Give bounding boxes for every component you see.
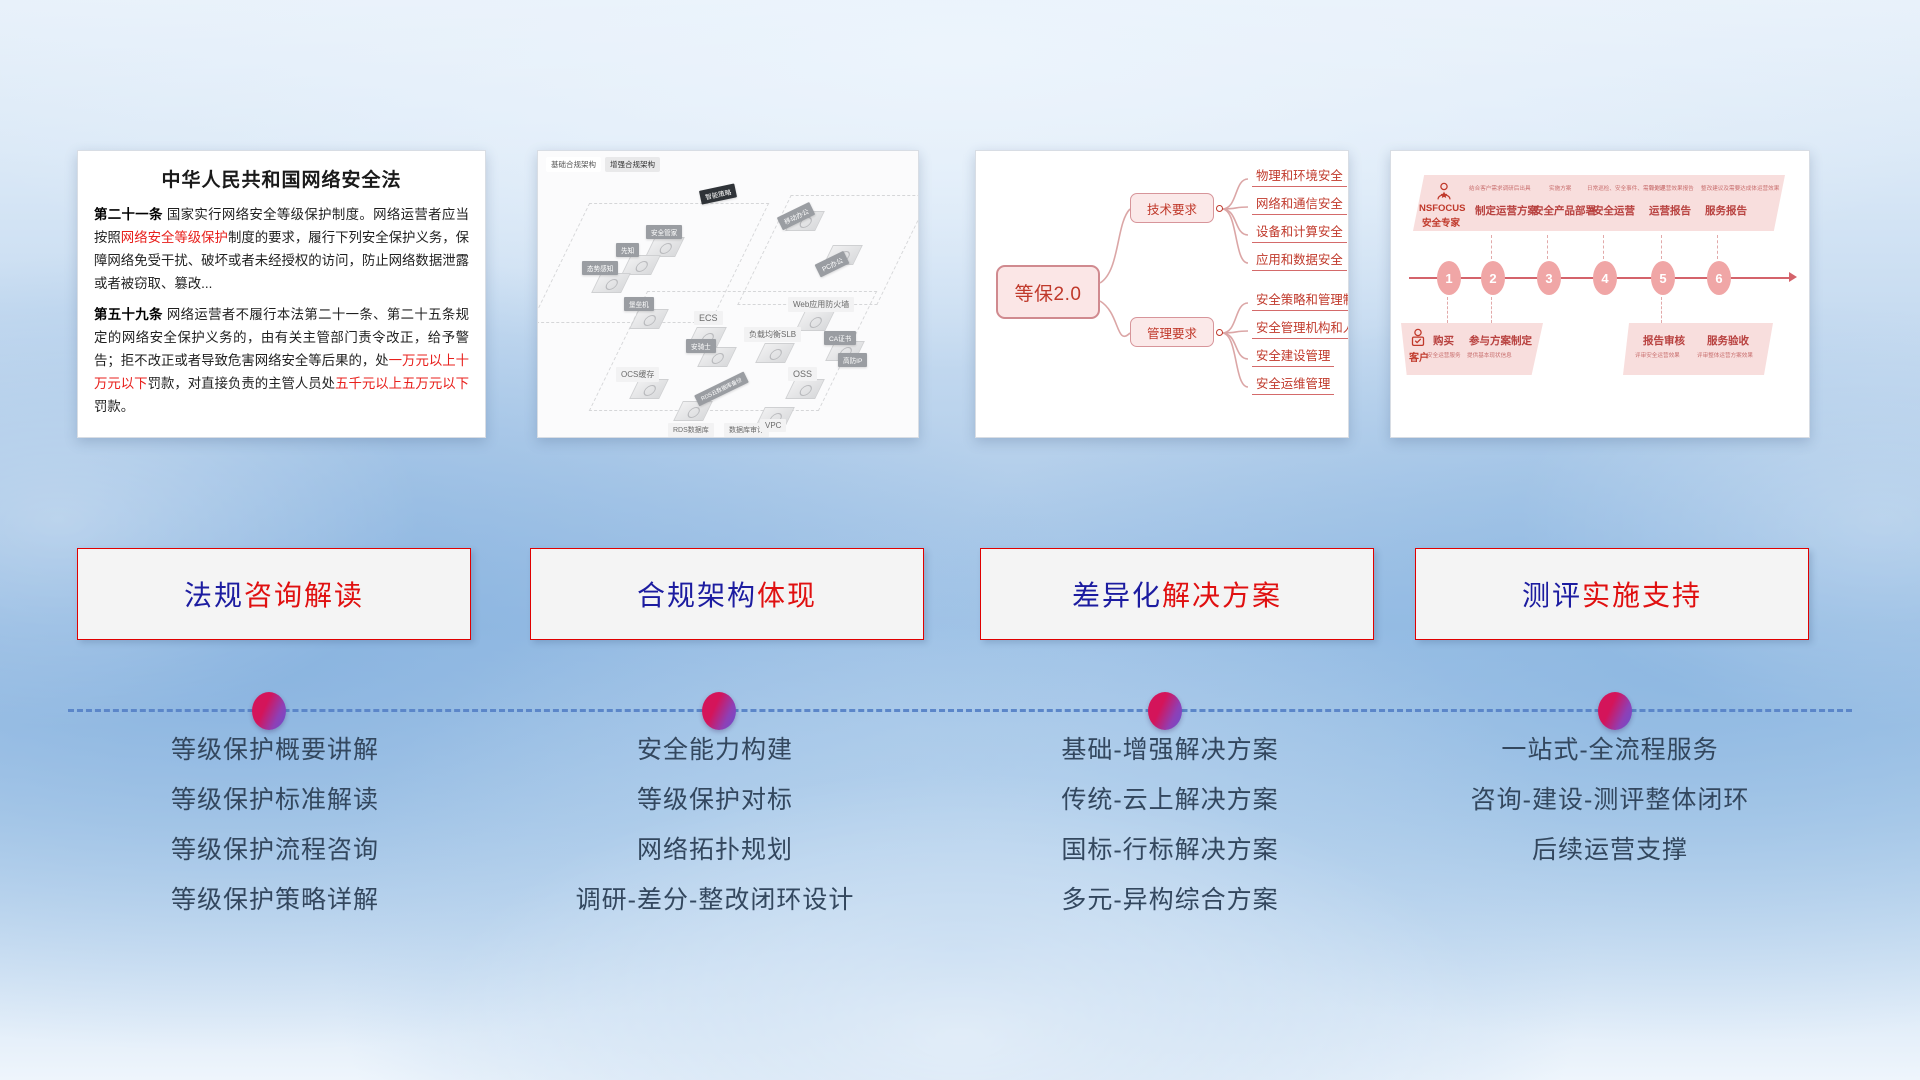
law-article-59: 第五十九条 网络运营者不履行本法第二十一条、第二十五条规定的网络安全保护义务的，… (94, 303, 469, 418)
ops-top-sub-1: 结合客户需求调研后出具 (1469, 184, 1531, 192)
list-item: 调研-差分-整改闭环设计 (500, 888, 930, 913)
ops-bottom-label-2: 参与方案制定 (1469, 333, 1532, 348)
list-item: 等级保护概要讲解 (60, 738, 490, 763)
ops-axis-arrow (1789, 272, 1797, 282)
ops-tick-2-down (1491, 297, 1492, 323)
mindmap-branch-management: 管理要求 (1130, 317, 1214, 347)
chip-oss: OSS (788, 367, 817, 381)
ops-top-label-3: 安全运营 (1593, 203, 1635, 218)
chip-ecs: ECS (694, 311, 723, 325)
bullet-columns: 等级保护概要讲解 等级保护标准解读 等级保护流程咨询 等级保护策略详解 安全能力… (0, 738, 1920, 988)
list-item: 等级保护对标 (500, 788, 930, 813)
section-title-3-part1: 差异化 (1072, 580, 1162, 611)
customer-person-icon (1407, 327, 1429, 349)
architecture-diagram: 基础合规架构 增强合规架构 (538, 151, 918, 437)
chip-bastion-host: 堡垒机 (624, 297, 654, 311)
section-title-3-part2: 解决方案 (1162, 580, 1282, 611)
timeline-axis (0, 690, 1920, 730)
ops-bottom-sub-1: 安全运营服务 (1427, 351, 1461, 359)
bullet-column-4: 一站式-全流程服务 咨询-建设-测评整体闭环 后续运营支撑 (1395, 738, 1825, 888)
list-item: 国标-行标解决方案 (955, 838, 1385, 863)
card-cybersecurity-law[interactable]: 中华人民共和国网络安全法 第二十一条 国家实行网络安全等级保护制度。网络运营者应… (77, 150, 486, 438)
section-title-2-part2: 体现 (757, 580, 817, 611)
section-title-text-4: 测评实施支持 (1522, 574, 1702, 614)
ops-bottom-sub-4: 评审整体运营方案效果 (1697, 351, 1753, 359)
chip-slb: 负载均衡SLB (744, 327, 801, 342)
timeline-marker-1[interactable] (252, 692, 286, 730)
bullet-column-2: 安全能力构建 等级保护对标 网络拓扑规划 调研-差分-整改闭环设计 (500, 738, 930, 938)
mindmap-leaf-org-personnel: 安全管理机构和人员 (1252, 317, 1349, 339)
ops-bottom-sub-2: 提供基本现状信息 (1467, 351, 1512, 359)
ops-brand-role: 安全专家 (1422, 215, 1460, 229)
chip-anti-ddos-ip: 高防IP (838, 353, 867, 367)
ops-customer-role: 客户 (1409, 349, 1429, 364)
chip-ocs-cache: OCS缓存 (616, 367, 659, 382)
list-item: 咨询-建设-测评整体闭环 (1395, 788, 1825, 813)
ops-step-5: 5 (1651, 261, 1675, 295)
mindmap-leaf-network-comm: 网络和通信安全 (1252, 193, 1347, 215)
tab-basic-architecture[interactable]: 基础合规架构 (546, 157, 601, 172)
ops-bottom-label-3: 报告审核 (1643, 333, 1685, 348)
ops-step-4: 4 (1593, 261, 1617, 295)
law-title: 中华人民共和国网络安全法 (94, 165, 469, 192)
law-article-21: 第二十一条 国家实行网络安全等级保护制度。网络运营者应当按照网络安全等级保护制度… (94, 203, 469, 295)
section-title-2-part1: 合规架构 (637, 580, 757, 611)
section-title-box-2[interactable]: 合规架构体现 (530, 548, 924, 640)
section-title-1-part2: 咨询解读 (244, 580, 364, 611)
mindmap-dot-technical (1216, 205, 1223, 212)
timeline-marker-2[interactable] (702, 692, 736, 730)
mindmap-leaf-policy-system: 安全策略和管理制度 (1252, 289, 1349, 311)
mindmap-leaf-operation-mgmt: 安全运维管理 (1252, 373, 1334, 395)
timeline-marker-4[interactable] (1598, 692, 1632, 730)
chip-smart-policy: 智能策略 (699, 183, 737, 204)
ops-tick-5-down (1661, 297, 1662, 323)
mindmap-leaf-app-data: 应用和数据安全 (1252, 249, 1347, 271)
ops-bottom-sub-3: 评审安全运营效果 (1635, 351, 1680, 359)
image-card-row: 中华人民共和国网络安全法 第二十一条 国家实行网络安全等级保护制度。网络运营者应… (0, 150, 1920, 440)
chip-vpc: VPC (760, 419, 786, 432)
chip-security-housekeeper: 安全管家 (646, 225, 682, 239)
bullet-column-1: 等级保护概要讲解 等级保护标准解读 等级保护流程咨询 等级保护策略详解 (60, 738, 490, 938)
list-item: 等级保护策略详解 (60, 888, 490, 913)
section-title-row: 法规咨询解读 合规架构体现 差异化解决方案 测评实施支持 (0, 548, 1920, 640)
article-59-highlight-2: 五千元以上五万元以下 (335, 376, 469, 391)
section-title-text-3: 差异化解决方案 (1072, 574, 1282, 614)
timeline-marker-3[interactable] (1148, 692, 1182, 730)
list-item: 安全能力构建 (500, 738, 930, 763)
ops-step-6: 6 (1707, 261, 1731, 295)
ops-top-label-2: 安全产品部署 (1533, 203, 1596, 218)
card-dengbao-mindmap[interactable]: 等保2.0 技术要求 物理和环境安全 网络和通信安全 (975, 150, 1349, 438)
ops-top-label-1: 制定运营方案 (1475, 203, 1538, 218)
ops-step-2: 2 (1481, 261, 1505, 295)
ops-top-sub-2: 实施方案 (1549, 184, 1571, 192)
chip-ca-certificate: CA证书 (824, 331, 856, 345)
ops-tick-3 (1547, 235, 1548, 259)
mindmap-branch-technical: 技术要求 (1130, 193, 1214, 223)
section-title-box-3[interactable]: 差异化解决方案 (980, 548, 1374, 640)
ops-top-sub-5: 整改建议及需要达成体运营效果 (1701, 184, 1779, 192)
chip-xianzhi: 先知 (616, 243, 639, 257)
mindmap-leaf-construction-mgmt: 安全建设管理 (1252, 345, 1334, 367)
section-title-4-part2: 实施支持 (1582, 580, 1702, 611)
law-document: 中华人民共和国网络安全法 第二十一条 国家实行网络安全等级保护制度。网络运营者应… (78, 151, 485, 436)
tab-enhanced-architecture[interactable]: 增强合规架构 (605, 157, 660, 172)
card-cloud-architecture[interactable]: 基础合规架构 增强合规架构 (537, 150, 919, 438)
mindmap-leaf-device-compute: 设备和计算安全 (1252, 221, 1347, 243)
mindmap-leaf-physical-env: 物理和环境安全 (1252, 165, 1347, 187)
mindmap: 等保2.0 技术要求 物理和环境安全 网络和通信安全 (976, 151, 1348, 437)
article-59-text-c: 罚款。 (94, 399, 134, 414)
mindmap-dot-management (1216, 329, 1223, 336)
list-item: 后续运营支撑 (1395, 838, 1825, 863)
ops-brand-name: NSFOCUS (1419, 203, 1465, 214)
card-operation-timeline[interactable]: NSFOCUS 安全专家 客户 结合客户需求调研后出具 制定运营方案 实施方案 … (1390, 150, 1810, 438)
list-item: 基础-增强解决方案 (955, 738, 1385, 763)
ops-top-label-5: 服务报告 (1705, 203, 1747, 218)
ops-top-label-4: 运营报告 (1649, 203, 1691, 218)
section-title-1-part1: 法规 (184, 580, 244, 611)
chip-rds: RDS数据库 (668, 423, 714, 437)
section-title-box-4[interactable]: 测评实施支持 (1415, 548, 1809, 640)
chip-anqishi: 安骑士 (686, 339, 716, 353)
list-item: 一站式-全流程服务 (1395, 738, 1825, 763)
list-item: 等级保护流程咨询 (60, 838, 490, 863)
article-21-label: 第二十一条 (94, 207, 163, 222)
bullet-column-3: 基础-增强解决方案 传统-云上解决方案 国标-行标解决方案 多元-异构综合方案 (955, 738, 1385, 938)
chip-situational-awareness: 态势感知 (582, 261, 618, 275)
article-21-highlight: 网络安全等级保护 (121, 230, 228, 245)
ops-top-sub-4: 针对运营效果报告 (1649, 184, 1694, 192)
ops-bottom-label-1: 购买 (1433, 333, 1454, 348)
architecture-tabs: 基础合规架构 增强合规架构 (546, 157, 660, 172)
article-59-label: 第五十九条 (94, 307, 163, 322)
ops-step-1: 1 (1437, 261, 1461, 295)
section-title-box-1[interactable]: 法规咨询解读 (77, 548, 471, 640)
chip-waf: Web应用防火墙 (788, 297, 854, 312)
slide-stage: 中华人民共和国网络安全法 第二十一条 国家实行网络安全等级保护制度。网络运营者应… (0, 0, 1920, 1080)
operation-timeline: NSFOCUS 安全专家 客户 结合客户需求调研后出具 制定运营方案 实施方案 … (1391, 151, 1809, 437)
list-item: 多元-异构综合方案 (955, 888, 1385, 913)
list-item: 传统-云上解决方案 (955, 788, 1385, 813)
ops-tick-2 (1491, 235, 1492, 259)
section-title-4-part1: 测评 (1522, 580, 1582, 611)
ops-tick-5 (1661, 235, 1662, 259)
ops-tick-4 (1603, 235, 1604, 259)
ops-tick-6 (1717, 235, 1718, 259)
list-item: 网络拓扑规划 (500, 838, 930, 863)
ops-bottom-label-4: 服务验收 (1707, 333, 1749, 348)
section-title-text-1: 法规咨询解读 (184, 574, 364, 614)
article-59-text-b: 罚款，对直接负责的主管人员处 (148, 376, 336, 391)
section-title-text-2: 合规架构体现 (637, 574, 817, 614)
timeline-dashed-line (68, 709, 1852, 712)
ops-step-3: 3 (1537, 261, 1561, 295)
ops-band-bottom-right (1623, 323, 1773, 375)
ops-tick-1-down (1447, 297, 1448, 323)
list-item: 等级保护标准解读 (60, 788, 490, 813)
expert-person-icon (1433, 181, 1455, 203)
